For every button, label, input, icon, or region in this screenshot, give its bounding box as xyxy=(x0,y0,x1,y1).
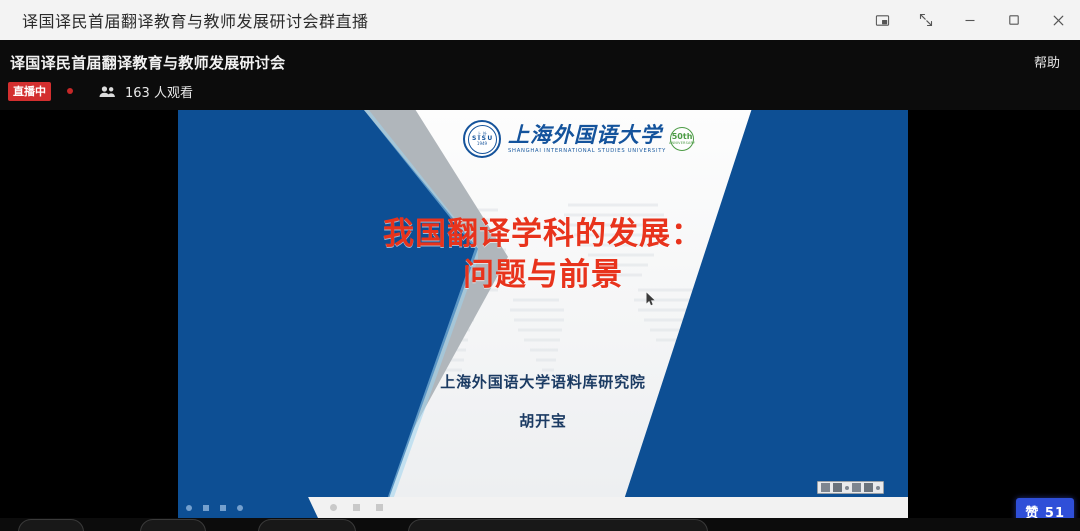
live-badge: 直播中 xyxy=(8,82,51,101)
close-icon[interactable] xyxy=(1036,0,1080,40)
people-icon xyxy=(99,85,116,98)
fullscreen-icon[interactable] xyxy=(904,0,948,40)
mouse-cursor-icon xyxy=(646,292,656,306)
presenter-right-controls[interactable] xyxy=(308,497,908,518)
window-controls xyxy=(860,0,1080,40)
picture-in-picture-icon[interactable] xyxy=(860,0,904,40)
help-link[interactable]: 帮助 xyxy=(1034,52,1060,71)
toolbar-icon-1[interactable] xyxy=(821,483,830,492)
presenter-icon-more[interactable] xyxy=(237,505,243,511)
presentation-mini-toolbar[interactable] xyxy=(817,481,884,494)
video-stage[interactable]: 上 外 S I S U 1949 上海外国语大学 SHANGHAI INTERN… xyxy=(178,110,908,518)
stream-title: 译国译民首届翻译教育与教师发展研讨会 xyxy=(10,52,285,73)
anniversary-number: 50th xyxy=(672,133,693,141)
presenter-icon-zoom[interactable] xyxy=(330,504,337,511)
stream-status-row: 直播中 163 人观看 xyxy=(8,81,193,101)
slide-title: 我国翻译学科的发展： 问题与前景 xyxy=(178,214,908,296)
slide-title-line1: 我国翻译学科的发展： xyxy=(178,214,908,255)
bottom-control-1[interactable] xyxy=(18,519,84,531)
bottom-control-3[interactable] xyxy=(258,519,356,531)
live-stream-window: 译国译民首届翻译教育与教师发展研讨会群直播 xyxy=(0,0,1080,531)
window-titlebar: 译国译民首届翻译教育与教师发展研讨会群直播 xyxy=(0,0,1080,40)
presenter-icon-slides[interactable] xyxy=(220,505,226,511)
emblem-year-text: 1949 xyxy=(477,142,487,146)
university-name-cn: 上海外国语大学 xyxy=(508,124,666,146)
anniversary-subtext: ANNIVERSARY xyxy=(669,142,695,145)
presenter-icon-pen[interactable] xyxy=(203,505,209,511)
presenter-icon-fit[interactable] xyxy=(376,504,383,511)
university-emblem-icon: 上 外 S I S U 1949 xyxy=(463,120,501,158)
slide-title-line2: 问题与前景 xyxy=(178,255,908,296)
university-name-en: SHANGHAI INTERNATIONAL STUDIES UNIVERSIT… xyxy=(508,148,666,154)
chat-input-bar[interactable] xyxy=(408,519,708,531)
toolbar-icon-6[interactable] xyxy=(876,486,880,490)
bottom-control-bar xyxy=(0,518,1080,531)
presenter-control-bar[interactable] xyxy=(178,497,908,518)
toolbar-icon-5[interactable] xyxy=(864,483,873,492)
anniversary-badge-icon: 50th ANNIVERSARY xyxy=(670,127,694,151)
viewer-count-group: 163 人观看 xyxy=(99,82,193,101)
university-wordmark: 上海外国语大学 SHANGHAI INTERNATIONAL STUDIES U… xyxy=(508,124,666,154)
toolbar-icon-4[interactable] xyxy=(852,483,861,492)
viewer-count-text: 163 人观看 xyxy=(125,82,193,101)
toolbar-icon-2[interactable] xyxy=(833,483,842,492)
bottom-control-2[interactable] xyxy=(140,519,206,531)
presenter-icon-view[interactable] xyxy=(353,504,360,511)
toolbar-icon-3[interactable] xyxy=(845,486,849,490)
university-logo: 上 外 S I S U 1949 上海外国语大学 SHANGHAI INTERN… xyxy=(463,117,694,161)
slide-organization: 上海外国语大学语料库研究院 xyxy=(178,371,908,392)
presenter-icon-prev[interactable] xyxy=(186,505,192,511)
slide-author: 胡开宝 xyxy=(178,410,908,431)
window-title: 译国译民首届翻译教育与教师发展研讨会群直播 xyxy=(22,8,369,32)
stream-header: 译国译民首届翻译教育与教师发展研讨会 帮助 直播中 163 人观看 xyxy=(0,40,1080,110)
presenter-left-controls[interactable] xyxy=(178,497,308,518)
maximize-icon[interactable] xyxy=(992,0,1036,40)
minimize-icon[interactable] xyxy=(948,0,992,40)
live-indicator-dot xyxy=(67,88,73,94)
